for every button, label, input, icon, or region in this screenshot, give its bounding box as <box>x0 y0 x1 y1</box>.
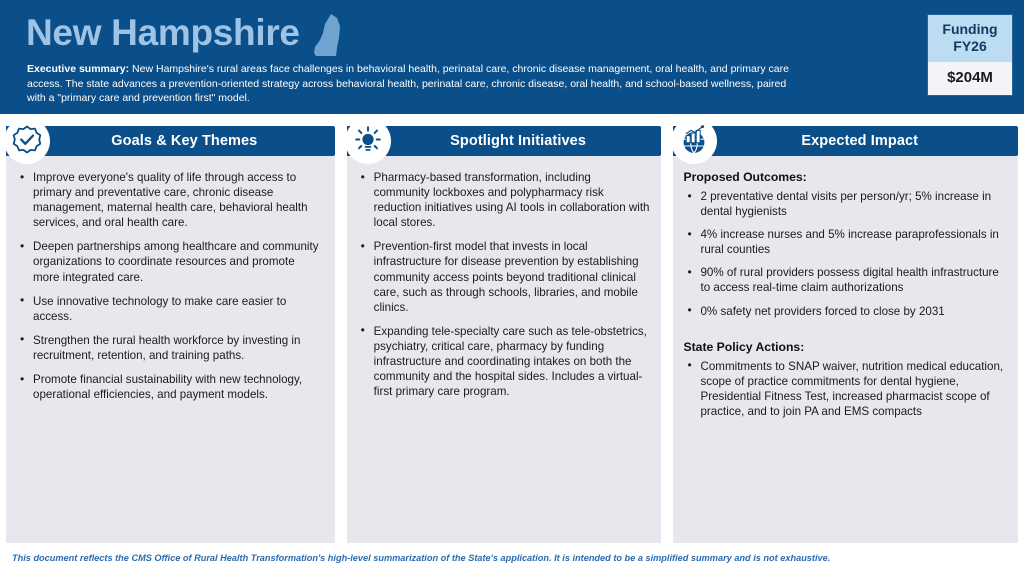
page-title: New Hampshire <box>26 11 300 55</box>
proposed-outcomes-list: 2 preventative dental visits per person/… <box>683 189 1006 319</box>
funding-label-line2: FY26 <box>953 38 986 54</box>
state-policy-actions-heading: State Policy Actions: <box>683 340 1006 354</box>
column-header-spotlight: Spotlight Initiatives <box>347 126 662 156</box>
funding-label-line1: Funding <box>942 21 997 37</box>
slide-root: New Hampshire Executive summary: New Ham… <box>0 0 1024 576</box>
list-item: Strengthen the rural health workforce by… <box>16 333 323 363</box>
list-item: Expanding tele-specialty care such as te… <box>357 324 650 399</box>
list-item: Pharmacy-based transformation, including… <box>357 170 650 230</box>
bar-chart-globe-icon <box>671 118 717 164</box>
new-hampshire-map-icon <box>310 14 344 56</box>
content-columns: Goals & Key Themes Improve everyone's qu… <box>0 126 1024 543</box>
list-item: 2 preventative dental visits per person/… <box>683 189 1006 219</box>
column-title-goals: Goals & Key Themes <box>83 133 257 149</box>
executive-summary: Executive summary: New Hampshire's rural… <box>27 62 797 106</box>
funding-amount: $204M <box>928 62 1012 95</box>
list-item: Commitments to SNAP waiver, nutrition me… <box>683 359 1006 419</box>
list-item: 90% of rural providers possess digital h… <box>683 265 1006 295</box>
list-item: Prevention-first model that invests in l… <box>357 239 650 314</box>
proposed-outcomes-heading: Proposed Outcomes: <box>683 170 1006 184</box>
column-spotlight-initiatives: Spotlight Initiatives Pharmacy-based tra… <box>347 126 662 543</box>
column-body-spotlight: Pharmacy-based transformation, including… <box>347 156 662 543</box>
column-title-spotlight: Spotlight Initiatives <box>422 133 586 149</box>
list-item: Promote financial sustainability with ne… <box>16 372 323 402</box>
column-body-goals: Improve everyone's quality of life throu… <box>6 156 335 543</box>
funding-badge-label: Funding FY26 <box>928 15 1012 62</box>
column-title-impact: Expected Impact <box>773 133 918 149</box>
goals-bullet-list: Improve everyone's quality of life throu… <box>16 170 323 402</box>
column-goals-key-themes: Goals & Key Themes Improve everyone's qu… <box>6 126 335 543</box>
list-item: Deepen partnerships among healthcare and… <box>16 239 323 284</box>
column-header-goals: Goals & Key Themes <box>6 126 335 156</box>
column-expected-impact: Expected Impact Proposed Outcomes: 2 pre… <box>673 126 1018 543</box>
list-item: 4% increase nurses and 5% increase parap… <box>683 227 1006 257</box>
lightbulb-icon <box>345 118 391 164</box>
executive-summary-text: New Hampshire's rural areas face challen… <box>27 63 789 104</box>
section-spacer <box>683 327 1006 340</box>
spotlight-bullet-list: Pharmacy-based transformation, including… <box>357 170 650 399</box>
footer-disclaimer: This document reflects the CMS Office of… <box>12 552 1012 564</box>
state-policy-actions-list: Commitments to SNAP waiver, nutrition me… <box>683 359 1006 419</box>
list-item: 0% safety net providers forced to close … <box>683 304 1006 319</box>
header-banner: New Hampshire Executive summary: New Ham… <box>0 0 1024 114</box>
list-item: Improve everyone's quality of life throu… <box>16 170 323 230</box>
column-header-impact: Expected Impact <box>673 126 1018 156</box>
checkmark-badge-icon <box>4 118 50 164</box>
state-title-row: New Hampshire <box>26 10 344 56</box>
executive-summary-label: Executive summary: <box>27 63 129 75</box>
column-body-impact: Proposed Outcomes: 2 preventative dental… <box>673 156 1018 543</box>
list-item: Use innovative technology to make care e… <box>16 294 323 324</box>
funding-badge: Funding FY26 $204M <box>928 15 1012 95</box>
